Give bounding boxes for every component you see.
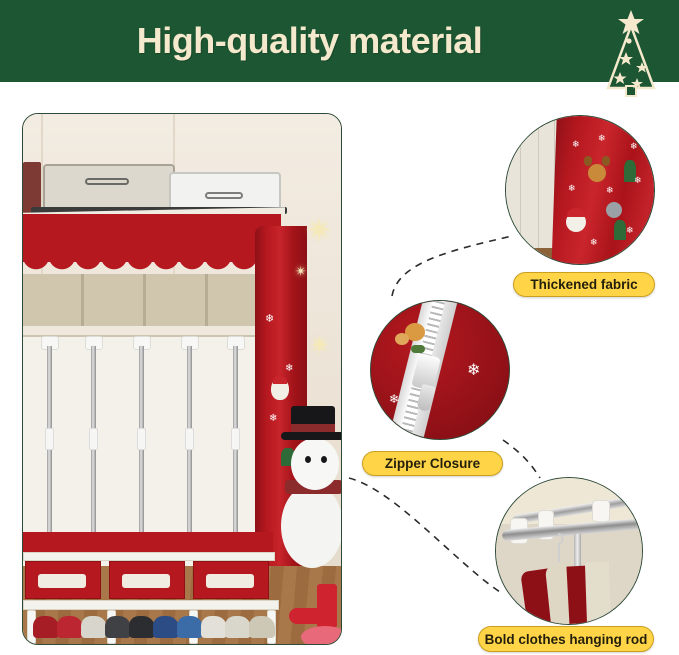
drawer-rail <box>23 552 275 561</box>
snowflake-icon: ❄ <box>572 140 580 149</box>
storage-drawer <box>25 561 101 599</box>
shoe <box>33 616 59 638</box>
cabinet-divider <box>81 274 84 326</box>
santa-hat-motif <box>567 208 585 217</box>
snowflake-icon: ❄ <box>606 186 614 195</box>
drawer-graphic <box>122 574 170 588</box>
snowflake-icon: ❄ <box>598 134 606 143</box>
snowflake-icon: ❄ <box>590 238 598 247</box>
reindeer-antler-motif <box>602 156 610 166</box>
snowman-eye <box>305 456 311 463</box>
snowflake-icon: ❄ <box>634 176 642 185</box>
rod-bracket <box>592 500 610 522</box>
drawer-graphic <box>38 574 86 588</box>
sparkle-star-icon: ✴ <box>295 264 307 278</box>
callout-label-zipper-closure[interactable]: Zipper Closure <box>362 451 503 476</box>
infographic-page: High-quality material <box>0 0 679 655</box>
rod-connector <box>231 428 240 450</box>
storage-drawer <box>193 561 269 599</box>
suitcase-grey <box>43 164 175 212</box>
callout-label-thickened-fabric[interactable]: Thickened fabric <box>513 272 655 297</box>
snowflake-icon: ❄ <box>568 184 576 193</box>
drawer-graphic <box>206 574 254 588</box>
shoe <box>57 616 83 638</box>
sparkle-star-icon: ✴ <box>305 214 334 248</box>
holly-leaf-motif <box>411 345 425 353</box>
connector-rod <box>503 440 540 478</box>
floor-rug <box>301 626 342 645</box>
header-banner: High-quality material <box>0 0 679 82</box>
snowman-hat-band <box>291 424 335 432</box>
sparkle-star-icon: ✴ <box>309 332 331 358</box>
rod-connector <box>137 428 146 450</box>
callout-label-hanging-rod[interactable]: Bold clothes hanging rod <box>478 626 654 652</box>
shoe <box>201 616 227 638</box>
penguin-motif <box>606 202 622 218</box>
suitcase-handle <box>85 178 129 185</box>
suitcase-handle <box>205 192 243 199</box>
cabinet-divider <box>143 274 146 326</box>
reindeer-motif <box>588 164 606 182</box>
snowflake-icon: ❄ <box>285 364 293 374</box>
drawer-top-band <box>23 532 273 554</box>
snowman-eye <box>321 456 327 463</box>
snowflake-icon: ❄ <box>265 314 274 325</box>
red-valance <box>23 214 281 262</box>
tree-motif <box>614 220 626 240</box>
snowflake-icon: ❄ <box>467 363 480 379</box>
shoe <box>129 616 155 638</box>
storage-drawer <box>109 561 185 599</box>
callout-image-zipper-closure: ❄ ❄ <box>370 300 510 440</box>
hanging-garment <box>585 562 611 625</box>
rod-connector <box>89 428 98 450</box>
rod-connector <box>45 428 54 450</box>
main-product-photo: ❄ ❄ ❄ <box>22 113 342 645</box>
page-title: High-quality material <box>0 0 679 82</box>
snowflake-icon: ❄ <box>626 226 634 235</box>
shoe <box>105 616 131 638</box>
snowflake-icon: ❄ <box>389 393 399 405</box>
cabinet-upper-compartments <box>23 274 259 326</box>
snowflake-icon: ❄ <box>638 248 646 257</box>
reindeer-antler-motif <box>584 156 592 166</box>
christmas-tree-icon <box>596 8 666 100</box>
snowman-head <box>291 438 339 490</box>
rod-connector <box>185 428 194 450</box>
callout-image-hanging-rod <box>495 477 643 625</box>
snowflake-icon: ❄ <box>630 142 638 151</box>
reindeer-motif-detail <box>395 333 409 345</box>
callout-image-thickened-fabric: ❄ ❄ ❄ ❄ ❄ ❄ ❄ ❄ ❄ <box>505 115 655 265</box>
bottom-shoe-rail <box>23 600 279 610</box>
santa-hat-motif <box>273 376 287 384</box>
snowman-body <box>281 484 342 568</box>
snowflake-icon: ❄ <box>269 414 277 424</box>
connector-fabric <box>392 236 512 296</box>
connector-rod-lower <box>349 478 500 592</box>
shoe <box>225 616 251 638</box>
shoe <box>153 616 179 638</box>
cabinet-divider <box>205 274 208 326</box>
shoe <box>177 616 203 638</box>
mitten-decoration <box>289 608 323 624</box>
shoe <box>81 616 107 638</box>
shoe <box>249 616 275 638</box>
